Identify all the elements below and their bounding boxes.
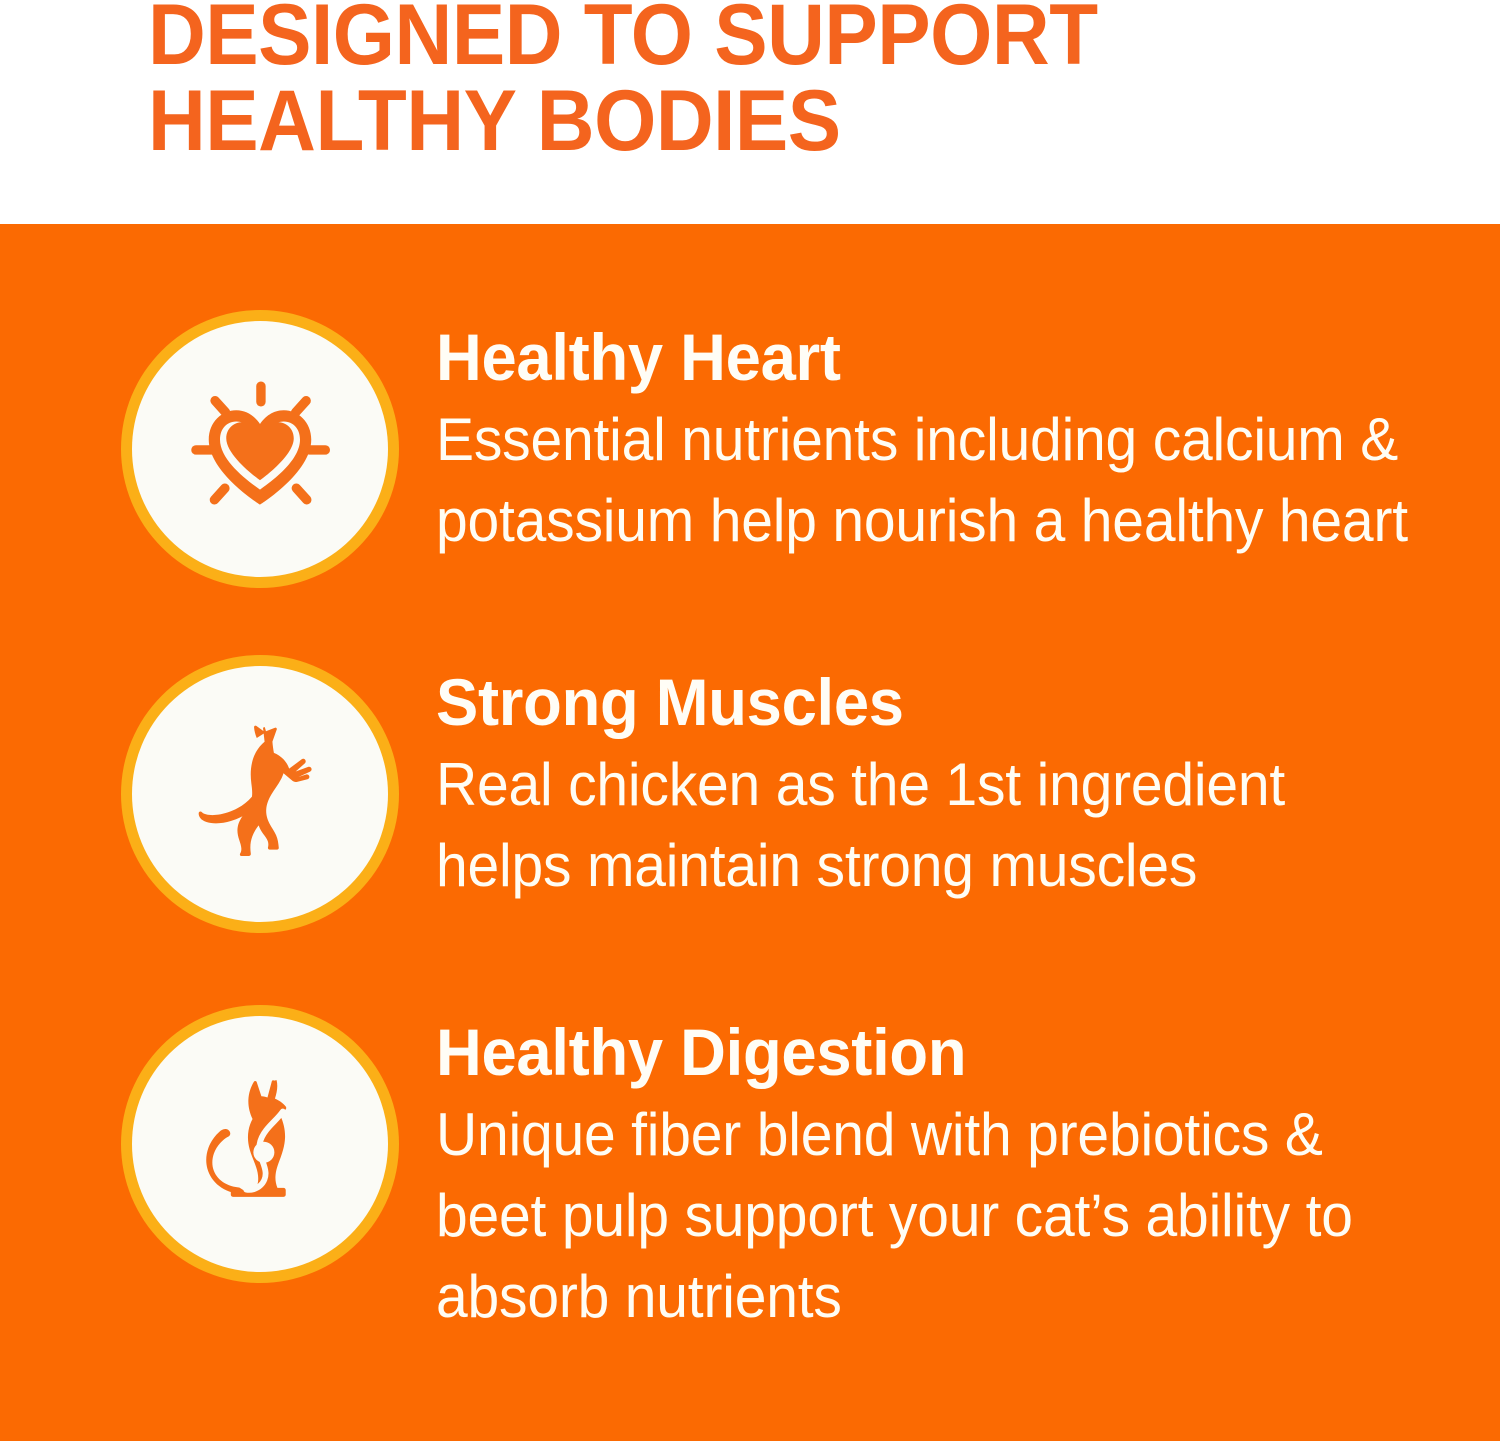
header-band: DESIGNED TO SUPPORT HEALTHY BODIES [0,0,1500,224]
feature-description: Real chicken as the 1st ingredient helps… [436,744,1409,906]
icon-badge-healthy-heart [132,321,388,577]
icon-badge-healthy-digestion [132,1016,388,1272]
icon-badge-strong-muscles [132,666,388,922]
feature-description: Essential nutrients including calcium & … [436,399,1409,561]
feature-row-strong-muscles: Strong Muscles Real chicken as the 1st i… [0,666,1500,922]
page-title: DESIGNED TO SUPPORT HEALTHY BODIES [148,0,1245,164]
features-panel: Healthy Heart Essential nutrients includ… [0,224,1500,1441]
radiant-heart-icon [185,374,335,524]
feature-row-healthy-heart: Healthy Heart Essential nutrients includ… [0,321,1500,577]
feature-title: Healthy Heart [436,321,1419,393]
feature-text-strong-muscles: Strong Muscles Real chicken as the 1st i… [436,666,1500,906]
sitting-cat-digestion-icon [177,1061,343,1227]
feature-row-healthy-digestion: Healthy Digestion Unique fiber blend wit… [0,1016,1500,1337]
feature-description: Unique fiber blend with prebiotics & bee… [436,1094,1409,1337]
feature-title: Strong Muscles [436,666,1419,738]
pouncing-cat-icon [179,713,341,875]
feature-text-healthy-heart: Healthy Heart Essential nutrients includ… [436,321,1500,561]
feature-text-healthy-digestion: Healthy Digestion Unique fiber blend wit… [436,1016,1500,1337]
product-feature-infographic: DESIGNED TO SUPPORT HEALTHY BODIES [0,0,1500,1441]
feature-title: Healthy Digestion [436,1016,1419,1088]
